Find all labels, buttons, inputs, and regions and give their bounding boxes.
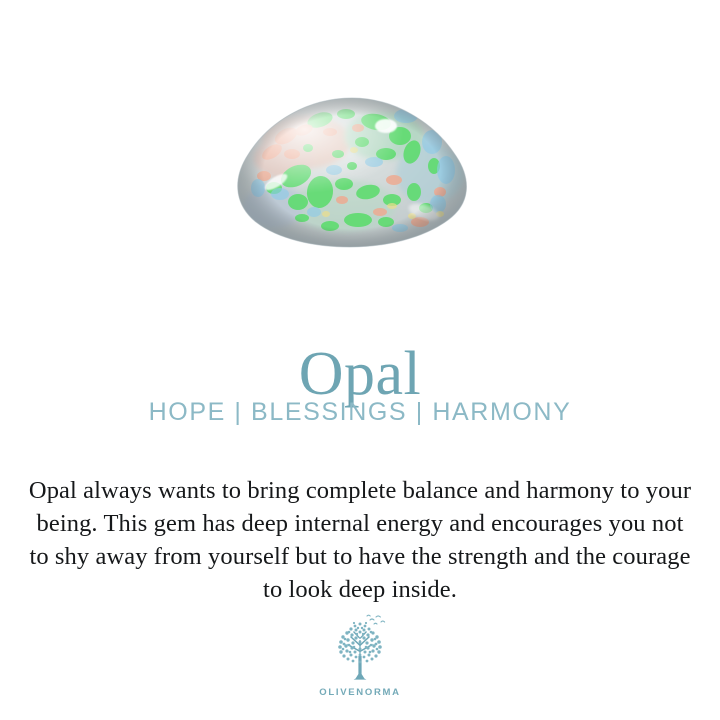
gemstone-card: Opal HOPE | BLESSINGS | HARMONY Opal alw… [0, 0, 720, 720]
opal-gemstone-svg [234, 96, 470, 248]
brand-logo: OLIVENORMA [0, 612, 720, 698]
brand-wordmark: OLIVENORMA [319, 687, 400, 698]
tree-of-life-icon [323, 612, 397, 686]
description-text: Opal always wants to bring complete bala… [24, 474, 696, 606]
keyword-tagline: HOPE | BLESSINGS | HARMONY [0, 398, 720, 427]
page-title: Opal [0, 342, 720, 407]
opal-gemstone-image [234, 96, 470, 248]
